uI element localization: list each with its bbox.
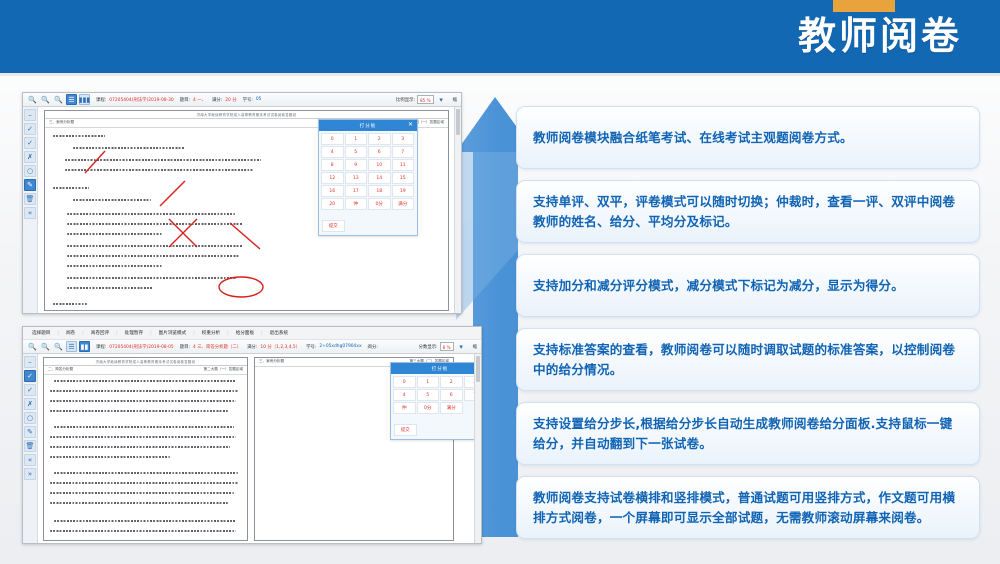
header-divider	[0, 73, 1000, 76]
zoom-select[interactable]: 8 %	[440, 342, 454, 351]
multi-page-icon[interactable]: ▮▮▮	[79, 94, 90, 105]
check-icon[interactable]: ✓	[24, 370, 36, 382]
screenshot-teacher-grading-dual[interactable]: 选择题目 | 阅卷 | 阅卷回评 | 处理暂存 | 图片浏览模式 | 权重分析 …	[22, 326, 482, 544]
score-key[interactable]: 7	[392, 146, 415, 158]
studentid-value: 05	[256, 97, 262, 102]
menu-separator: |	[57, 331, 59, 336]
chevron-down-icon[interactable]: ▾	[436, 94, 447, 105]
question-label: 题目:	[180, 97, 190, 103]
score-key[interactable]: 5	[345, 146, 368, 158]
toolbar-right-group[interactable]: 分数显示: 8 % ▾ 缩	[415, 341, 477, 352]
slide-root: 教师阅卷 🔍 🔍 🔍 ☰ ▮▮▮ 课程: 07205404(刑法学)201	[0, 0, 1000, 564]
bottom-toolbar[interactable]: 🔍 🔍 🔍 ☰ ▮▮ 课程: 07205404(刑法学)2019-08-05 题…	[23, 340, 481, 354]
score-key[interactable]: 4	[321, 146, 344, 158]
menu-separator: |	[116, 331, 118, 336]
zoom-in-icon[interactable]: 🔍	[27, 341, 38, 352]
score-key[interactable]: 0	[321, 133, 344, 145]
menu-item-regrade[interactable]: 阅卷回评	[88, 330, 112, 336]
feature-card-text: 支持单评、双平，评卷模式可以随时切换；仲裁时，查看一评、双评中阅卷教师的姓名、给…	[533, 192, 963, 232]
menu-item-weight-analysis[interactable]: 权重分析	[199, 330, 223, 336]
zoom-reset-icon[interactable]: 🔍	[53, 94, 64, 105]
arbitration-key[interactable]: 仲	[393, 402, 416, 414]
eraser-icon[interactable]: 🗑	[24, 440, 36, 452]
score-key[interactable]: 15	[392, 172, 415, 184]
score-key[interactable]: 19	[392, 185, 415, 197]
score-key[interactable]: 2	[440, 376, 463, 388]
zoom-reset-icon[interactable]: 🔍	[53, 341, 64, 352]
studentid-label: 学号:	[243, 97, 253, 103]
feature-card: 支持标准答案的查看，教师阅卷可以随时调取试题的标准答案，以控制阅卷中的给分情况。	[516, 328, 980, 391]
check-icon[interactable]: ✓	[24, 123, 36, 135]
collapse-icon[interactable]: «	[24, 207, 36, 219]
feature-card-text: 教师阅卷模块融合纸笔考试、在线考试主观题阅卷方式。	[533, 128, 853, 148]
zoom-label: 分数显示:	[419, 344, 438, 350]
course-value: 07205404(刑法学)2019-08-05	[109, 344, 173, 350]
submit-score-button[interactable]: 提交	[322, 220, 345, 232]
score-key[interactable]: 16	[321, 185, 344, 197]
fullscore-label: 满分:	[247, 344, 257, 350]
score-key[interactable]: 11	[392, 159, 415, 171]
arbitration-key[interactable]: 仲	[345, 198, 368, 210]
close-icon[interactable]: ✕	[408, 121, 414, 129]
question-value: 4 三、简答分析题（二）	[193, 344, 241, 350]
score-key[interactable]: 5	[417, 389, 440, 401]
course-value: 07205404(刑法学)2019-08-30	[109, 97, 173, 103]
feature-card: 支持单评、双平，评卷模式可以随时切换；仲裁时，查看一评、双评中阅卷教师的姓名、给…	[516, 180, 980, 243]
fullscore-value: 10 分（1,2,3,4,5）	[260, 344, 300, 350]
score-key-grid-bottom[interactable]: 0 1 2 3 4 5 6 7 仲 0分 满分	[391, 374, 481, 416]
top-toolbar[interactable]: 🔍 🔍 🔍 ☰ ▮▮▮ 课程: 07205404(刑法学)2019-08-30 …	[23, 93, 461, 107]
scrollbar-thumb[interactable]	[476, 356, 480, 382]
feature-card-text: 支持加分和减分评分模式，减分模式下标记为减分，显示为得分。	[533, 276, 904, 296]
score-panel-bottom[interactable]: 打分板 ✕ 0 1 2 3 4 5 6 7 仲 0分 满分	[390, 362, 481, 440]
studentid-label: 学号:	[306, 344, 316, 350]
feature-card: 教师阅卷模块融合纸笔考试、在线考试主观题阅卷方式。	[516, 106, 980, 169]
fullscore-value: 20 分	[225, 97, 236, 103]
score-key[interactable]: 18	[368, 185, 391, 197]
circle-icon[interactable]: ○	[24, 165, 36, 177]
score-label: 阅分:	[368, 344, 378, 350]
minus-icon[interactable]: –	[24, 109, 36, 121]
single-page-icon[interactable]: ☰	[66, 341, 77, 352]
eraser-icon[interactable]: 🗑	[24, 193, 36, 205]
page-title: 教师阅卷	[798, 8, 962, 64]
toolbar-right-group[interactable]: 比例显示: 85 % ▾ 缩	[392, 94, 457, 105]
score-panel-title-bar: 打分板 ✕	[319, 120, 417, 131]
menu-item-exit[interactable]: 退出系统	[267, 330, 291, 336]
minus-icon[interactable]: –	[24, 356, 36, 368]
question-label: 题目:	[180, 344, 190, 350]
fullscore-label: 满分:	[212, 97, 222, 103]
score-panel-top[interactable]: 打分板 ✕ 0 1 2 3 4 5 6 7 8 9 10	[318, 119, 418, 236]
main-menubar[interactable]: 选择题目 | 阅卷 | 阅卷回评 | 处理暂存 | 图片浏览模式 | 权重分析 …	[23, 327, 481, 340]
zoom-label: 比例显示:	[396, 97, 415, 103]
score-panel-title: 打分板	[360, 123, 377, 129]
score-key[interactable]: 1	[417, 376, 440, 388]
zoom-out-icon[interactable]: 🔍	[40, 94, 51, 105]
menu-item-select-question[interactable]: 选择题目	[29, 330, 53, 336]
vertical-scrollbar-top[interactable]	[454, 107, 461, 313]
answer-sheet-canvas-bottom[interactable]: 济南大学继续教育学院成人高等教育期末考试试卷阅卷答题纸 二、简答分析题 第二大题…	[38, 354, 481, 543]
collapse-icon[interactable]: «	[24, 454, 36, 466]
score-key[interactable]: 17	[345, 185, 368, 197]
score-key[interactable]: 6	[368, 146, 391, 158]
answer-sheet-page-left[interactable]: 济南大学继续教育学院成人高等教育期末考试试卷阅卷答题纸 二、简答分析题 第二大题…	[43, 357, 248, 541]
vertical-scrollbar-bottom[interactable]	[474, 354, 481, 543]
full-score-key[interactable]: 满分	[392, 198, 415, 210]
zoom-select[interactable]: 85 %	[417, 95, 434, 104]
score-key[interactable]: 0	[393, 376, 416, 388]
half-check-icon[interactable]: ✓	[24, 384, 36, 396]
feature-card: 支持设置给分步长,根据给分步长自动生成教师阅卷给分面板.支持鼠标一键给分，并自动…	[516, 402, 980, 465]
zero-score-key[interactable]: 0分	[368, 198, 391, 210]
course-label: 课程:	[96, 344, 106, 350]
cross-icon[interactable]: ✗	[24, 398, 36, 410]
single-page-icon[interactable]: ☰	[66, 94, 77, 105]
zoom-unit: 缩	[453, 97, 457, 103]
pen-icon[interactable]: ✎	[24, 179, 36, 191]
score-key[interactable]: 2	[368, 133, 391, 145]
score-key[interactable]: 3	[392, 133, 415, 145]
feature-card-text: 支持设置给分步长,根据给分步长自动生成教师阅卷给分面板.支持鼠标一键给分，并自动…	[533, 414, 963, 454]
score-panel-title: 打分板	[432, 366, 449, 372]
grading-workspace-bottom: – ✓ ✓ ✗ ○ ✎ 🗑 « » 济南大学继续教育学院成人高等教育期末考试试卷…	[23, 354, 481, 543]
score-panel-title-bar: 打分板 ✕	[391, 363, 481, 374]
menu-item-score-panel[interactable]: 给分面板	[233, 330, 257, 336]
score-key-grid-top[interactable]: 0 1 2 3 4 5 6 7 8 9 10 11 12 13	[319, 131, 417, 212]
menu-separator: |	[261, 331, 263, 336]
menu-item-grading[interactable]: 阅卷	[63, 330, 78, 336]
full-score-key[interactable]: 满分	[440, 402, 463, 414]
zoom-out-icon[interactable]: 🔍	[40, 341, 51, 352]
cross-icon[interactable]: ✗	[24, 151, 36, 163]
feature-card-text: 教师阅卷支持试卷横排和竖排模式，普通试题可用竖排方式，作文题可用横排方式阅卷，一…	[533, 488, 963, 528]
half-check-icon[interactable]: ✓	[24, 137, 36, 149]
menu-separator: |	[82, 331, 84, 336]
menu-separator: |	[227, 331, 229, 336]
answer-sheet-canvas-top[interactable]: 济南大学继续教育学院成人高等教育期末考试试卷阅卷答题纸 三、案例分析题 第三大题…	[38, 107, 461, 313]
course-label: 课程:	[96, 97, 106, 103]
menu-separator: |	[193, 331, 195, 336]
expand-icon[interactable]: »	[24, 468, 36, 480]
score-key[interactable]: 4	[393, 389, 416, 401]
handwriting-strokes-left	[44, 358, 247, 540]
screenshot-teacher-grading-single[interactable]: 🔍 🔍 🔍 ☰ ▮▮▮ 课程: 07205404(刑法学)2019-08-30 …	[22, 92, 462, 314]
chevron-down-icon[interactable]: ▾	[456, 341, 467, 352]
menu-separator: |	[150, 331, 152, 336]
circle-icon[interactable]: ○	[24, 412, 36, 424]
pen-icon[interactable]: ✎	[24, 426, 36, 438]
zoom-in-icon[interactable]: 🔍	[27, 94, 38, 105]
multi-page-icon[interactable]: ▮▮	[79, 341, 90, 352]
feature-card: 支持加分和减分评分模式，减分模式下标记为减分，显示为得分。	[516, 254, 980, 317]
annotation-tool-rail-bottom[interactable]: – ✓ ✓ ✗ ○ ✎ 🗑 « »	[23, 354, 38, 543]
submit-score-button[interactable]: 提交	[394, 424, 417, 436]
score-key[interactable]: 20	[321, 198, 344, 210]
score-key[interactable]: 1	[345, 133, 368, 145]
score-key[interactable]: 9	[345, 159, 368, 171]
grading-workspace-top: – ✓ ✓ ✗ ○ ✎ 🗑 « 济南大学继续教育学院成人高等教育期末考试试卷阅卷…	[23, 107, 461, 313]
score-key[interactable]: 6	[440, 389, 463, 401]
zero-score-key[interactable]: 0分	[417, 402, 440, 414]
score-key[interactable]: 8	[321, 159, 344, 171]
feature-card: 教师阅卷支持试卷横排和竖排模式，普通试题可用竖排方式，作文题可用横排方式阅卷，一…	[516, 476, 980, 539]
score-key[interactable]: 13	[345, 172, 368, 184]
zoom-unit: 缩	[473, 344, 477, 350]
score-key[interactable]: 10	[368, 159, 391, 171]
menu-item-image-mode[interactable]: 图片浏览模式	[156, 330, 190, 336]
sheet-section-label: 三、案例分析题	[259, 359, 284, 364]
page-header: 教师阅卷	[0, 0, 1000, 73]
studentid-value: 2+05xdhg07904xx	[319, 344, 361, 349]
question-value: 4 一、	[193, 97, 206, 103]
score-key[interactable]: 12	[321, 172, 344, 184]
annotation-tool-rail-top[interactable]: – ✓ ✓ ✗ ○ ✎ 🗑 «	[23, 107, 38, 313]
scrollbar-thumb[interactable]	[456, 109, 460, 135]
score-key[interactable]: 14	[368, 172, 391, 184]
feature-card-text: 支持标准答案的查看，教师阅卷可以随时调取试题的标准答案，以控制阅卷中的给分情况。	[533, 340, 963, 380]
menu-item-pending[interactable]: 处理暂存	[122, 330, 146, 336]
